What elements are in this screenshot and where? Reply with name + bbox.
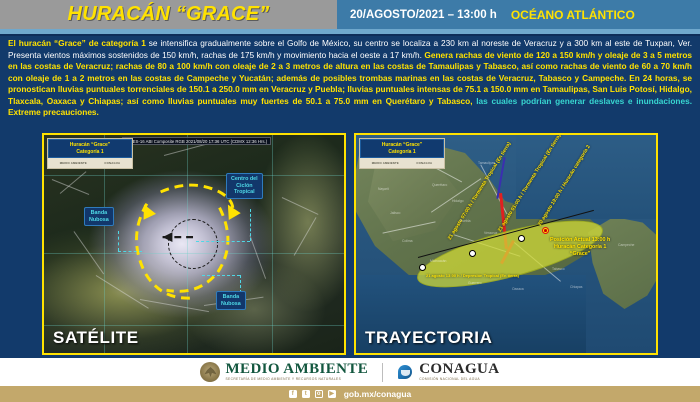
map-place-label: Campeche xyxy=(618,243,634,247)
annotation-line-1: Centro del xyxy=(231,176,258,183)
annotation-line-3: Tropical xyxy=(231,189,258,196)
current-position-label: Posición Actual 13:00 h Huracán Categorí… xyxy=(550,237,610,258)
advisory-text: El huracán “Grace” de categoría 1 se int… xyxy=(8,38,692,126)
map-place-label: Veracruz xyxy=(484,231,497,235)
map-place-label: Guerrero xyxy=(468,281,482,285)
advisory-lead: El huracán “Grace” de categoría 1 xyxy=(8,38,146,48)
header-title-block: HURACÁN “GRACE” xyxy=(0,0,337,29)
header-divider-line xyxy=(0,34,700,36)
track-point-current-position xyxy=(542,227,549,234)
trajectory-inset-title: Huracán “Grace” xyxy=(382,142,423,149)
leader-line-centro-v xyxy=(250,209,251,241)
conagua-water-icon xyxy=(397,364,414,381)
map-place-label: Jalisco xyxy=(390,211,400,215)
position-label-line-3: “Grace” xyxy=(550,251,610,258)
map-place-label: Hidalgo xyxy=(452,199,464,203)
instagram-icon[interactable]: o xyxy=(315,390,323,398)
annotation-line-2: Nubosa xyxy=(89,217,109,224)
satellite-image: GOES-16 ABI Composite RGB 2021/08/20 17:… xyxy=(44,135,344,353)
logo-conagua-name: CONAGUA xyxy=(419,362,499,377)
footer-logos: MEDIO AMBIENTE SECRETARÍA DE MEDIO AMBIE… xyxy=(0,358,700,386)
leader-line-banda-1-v xyxy=(118,231,119,251)
annotation-line-1: Banda xyxy=(221,294,241,301)
trajectory-inset-header: Huracán “Grace” Categoría 1 xyxy=(360,139,444,158)
satellite-panel: GOES-16 ABI Composite RGB 2021/08/20 17:… xyxy=(42,133,346,355)
annotation-line-1: Banda xyxy=(89,210,109,217)
logo-conagua: CONAGUA COMISIÓN NACIONAL DEL AGUA xyxy=(397,362,499,382)
map-place-label: Tabasco xyxy=(552,267,565,271)
footer-social-bar: f t o ▶ gob.mx/conagua xyxy=(0,386,700,402)
track-point-forecast-1 xyxy=(518,235,525,242)
eagle-seal-icon xyxy=(200,362,220,382)
map-place-label: Chiapas xyxy=(570,285,582,289)
satellite-eye-marker xyxy=(168,219,218,269)
trajectory-inset-logo-semarnat: MEDIO AMBIENTE xyxy=(372,161,399,165)
position-label-line-1: Posición Actual 13:00 h xyxy=(550,237,610,244)
map-place-label: Puebla xyxy=(460,219,471,223)
track-point-forecast-2 xyxy=(469,250,476,257)
page-title: HURACÁN “GRACE” xyxy=(68,3,270,26)
track-label-endpoint: 21 agosto 13:00 h / Depresión Tropical (… xyxy=(426,273,519,278)
youtube-icon[interactable]: ▶ xyxy=(328,390,336,398)
trajectory-map: 21 agosto 07:00 h / Tormenta Tropical (E… xyxy=(356,135,656,353)
leader-line-banda-1 xyxy=(118,251,142,252)
trajectory-panel: 21 agosto 07:00 h / Tormenta Tropical (E… xyxy=(354,133,658,355)
website-url[interactable]: gob.mx/conagua xyxy=(344,389,412,399)
advisory-highlight: las cuales podrían generar deslaves e in… xyxy=(476,96,692,106)
logo-medio-ambiente-subtitle: SECRETARÍA DE MEDIO AMBIENTE Y RECURSOS … xyxy=(225,377,368,382)
annotation-line-2: Nubosa xyxy=(221,301,241,308)
annotation-banda-nubosa-2: Banda Nubosa xyxy=(216,291,246,310)
position-label-line-2: Huracán Categoría 1 xyxy=(550,244,610,251)
advisory-tail: Extreme precauciones. xyxy=(8,107,99,117)
map-place-label: Colima xyxy=(402,239,413,243)
map-place-label: Michoacán xyxy=(430,259,446,263)
header-meta-block: 20/AGOSTO/2021 – 13:00 h OCÉANO ATLÁNTIC… xyxy=(337,0,700,29)
facebook-icon[interactable]: f xyxy=(289,390,297,398)
track-point-forecast-3 xyxy=(419,264,426,271)
infographic-root: HURACÁN “GRACE” 20/AGOSTO/2021 – 13:00 h… xyxy=(0,0,700,402)
trajectory-inset-category: Categoría 1 xyxy=(388,149,415,156)
logo-medio-ambiente: MEDIO AMBIENTE SECRETARÍA DE MEDIO AMBIE… xyxy=(200,362,368,382)
header-datetime: 20/AGOSTO/2021 – 13:00 h xyxy=(350,9,497,21)
trajectory-inset-logos: MEDIO AMBIENTE CONAGUA xyxy=(360,158,444,168)
twitter-icon[interactable]: t xyxy=(302,390,310,398)
trajectory-inset-card: Huracán “Grace” Categoría 1 MEDIO AMBIEN… xyxy=(359,138,445,169)
leader-line-banda-2 xyxy=(202,275,240,276)
map-place-label: Tamaulipas xyxy=(478,161,495,165)
leader-line-centro xyxy=(196,241,250,242)
map-place-label: Oaxaca xyxy=(512,287,524,291)
map-place-label: Nayarit xyxy=(378,187,389,191)
header-ocean-basin: OCÉANO ATLÁNTICO xyxy=(511,8,635,22)
annotation-line-2: Ciclón xyxy=(231,183,258,190)
logo-conagua-subtitle: COMISIÓN NACIONAL DEL AGUA xyxy=(419,377,499,382)
annotation-centro-ciclon: Centro del Ciclón Tropical xyxy=(226,173,263,199)
map-place-label: Querétaro xyxy=(432,183,447,187)
logo-medio-ambiente-name: MEDIO AMBIENTE xyxy=(225,362,368,377)
trajectory-inset-logo-conagua: CONAGUA xyxy=(416,161,432,165)
header: HURACÁN “GRACE” 20/AGOSTO/2021 – 13:00 h… xyxy=(0,0,700,29)
trajectory-panel-label: TRAYECTORIA xyxy=(365,328,493,348)
satellite-panel-label: SATÉLITE xyxy=(53,328,139,348)
annotation-banda-nubosa-1: Banda Nubosa xyxy=(84,207,114,226)
footer-logo-divider xyxy=(382,363,383,382)
